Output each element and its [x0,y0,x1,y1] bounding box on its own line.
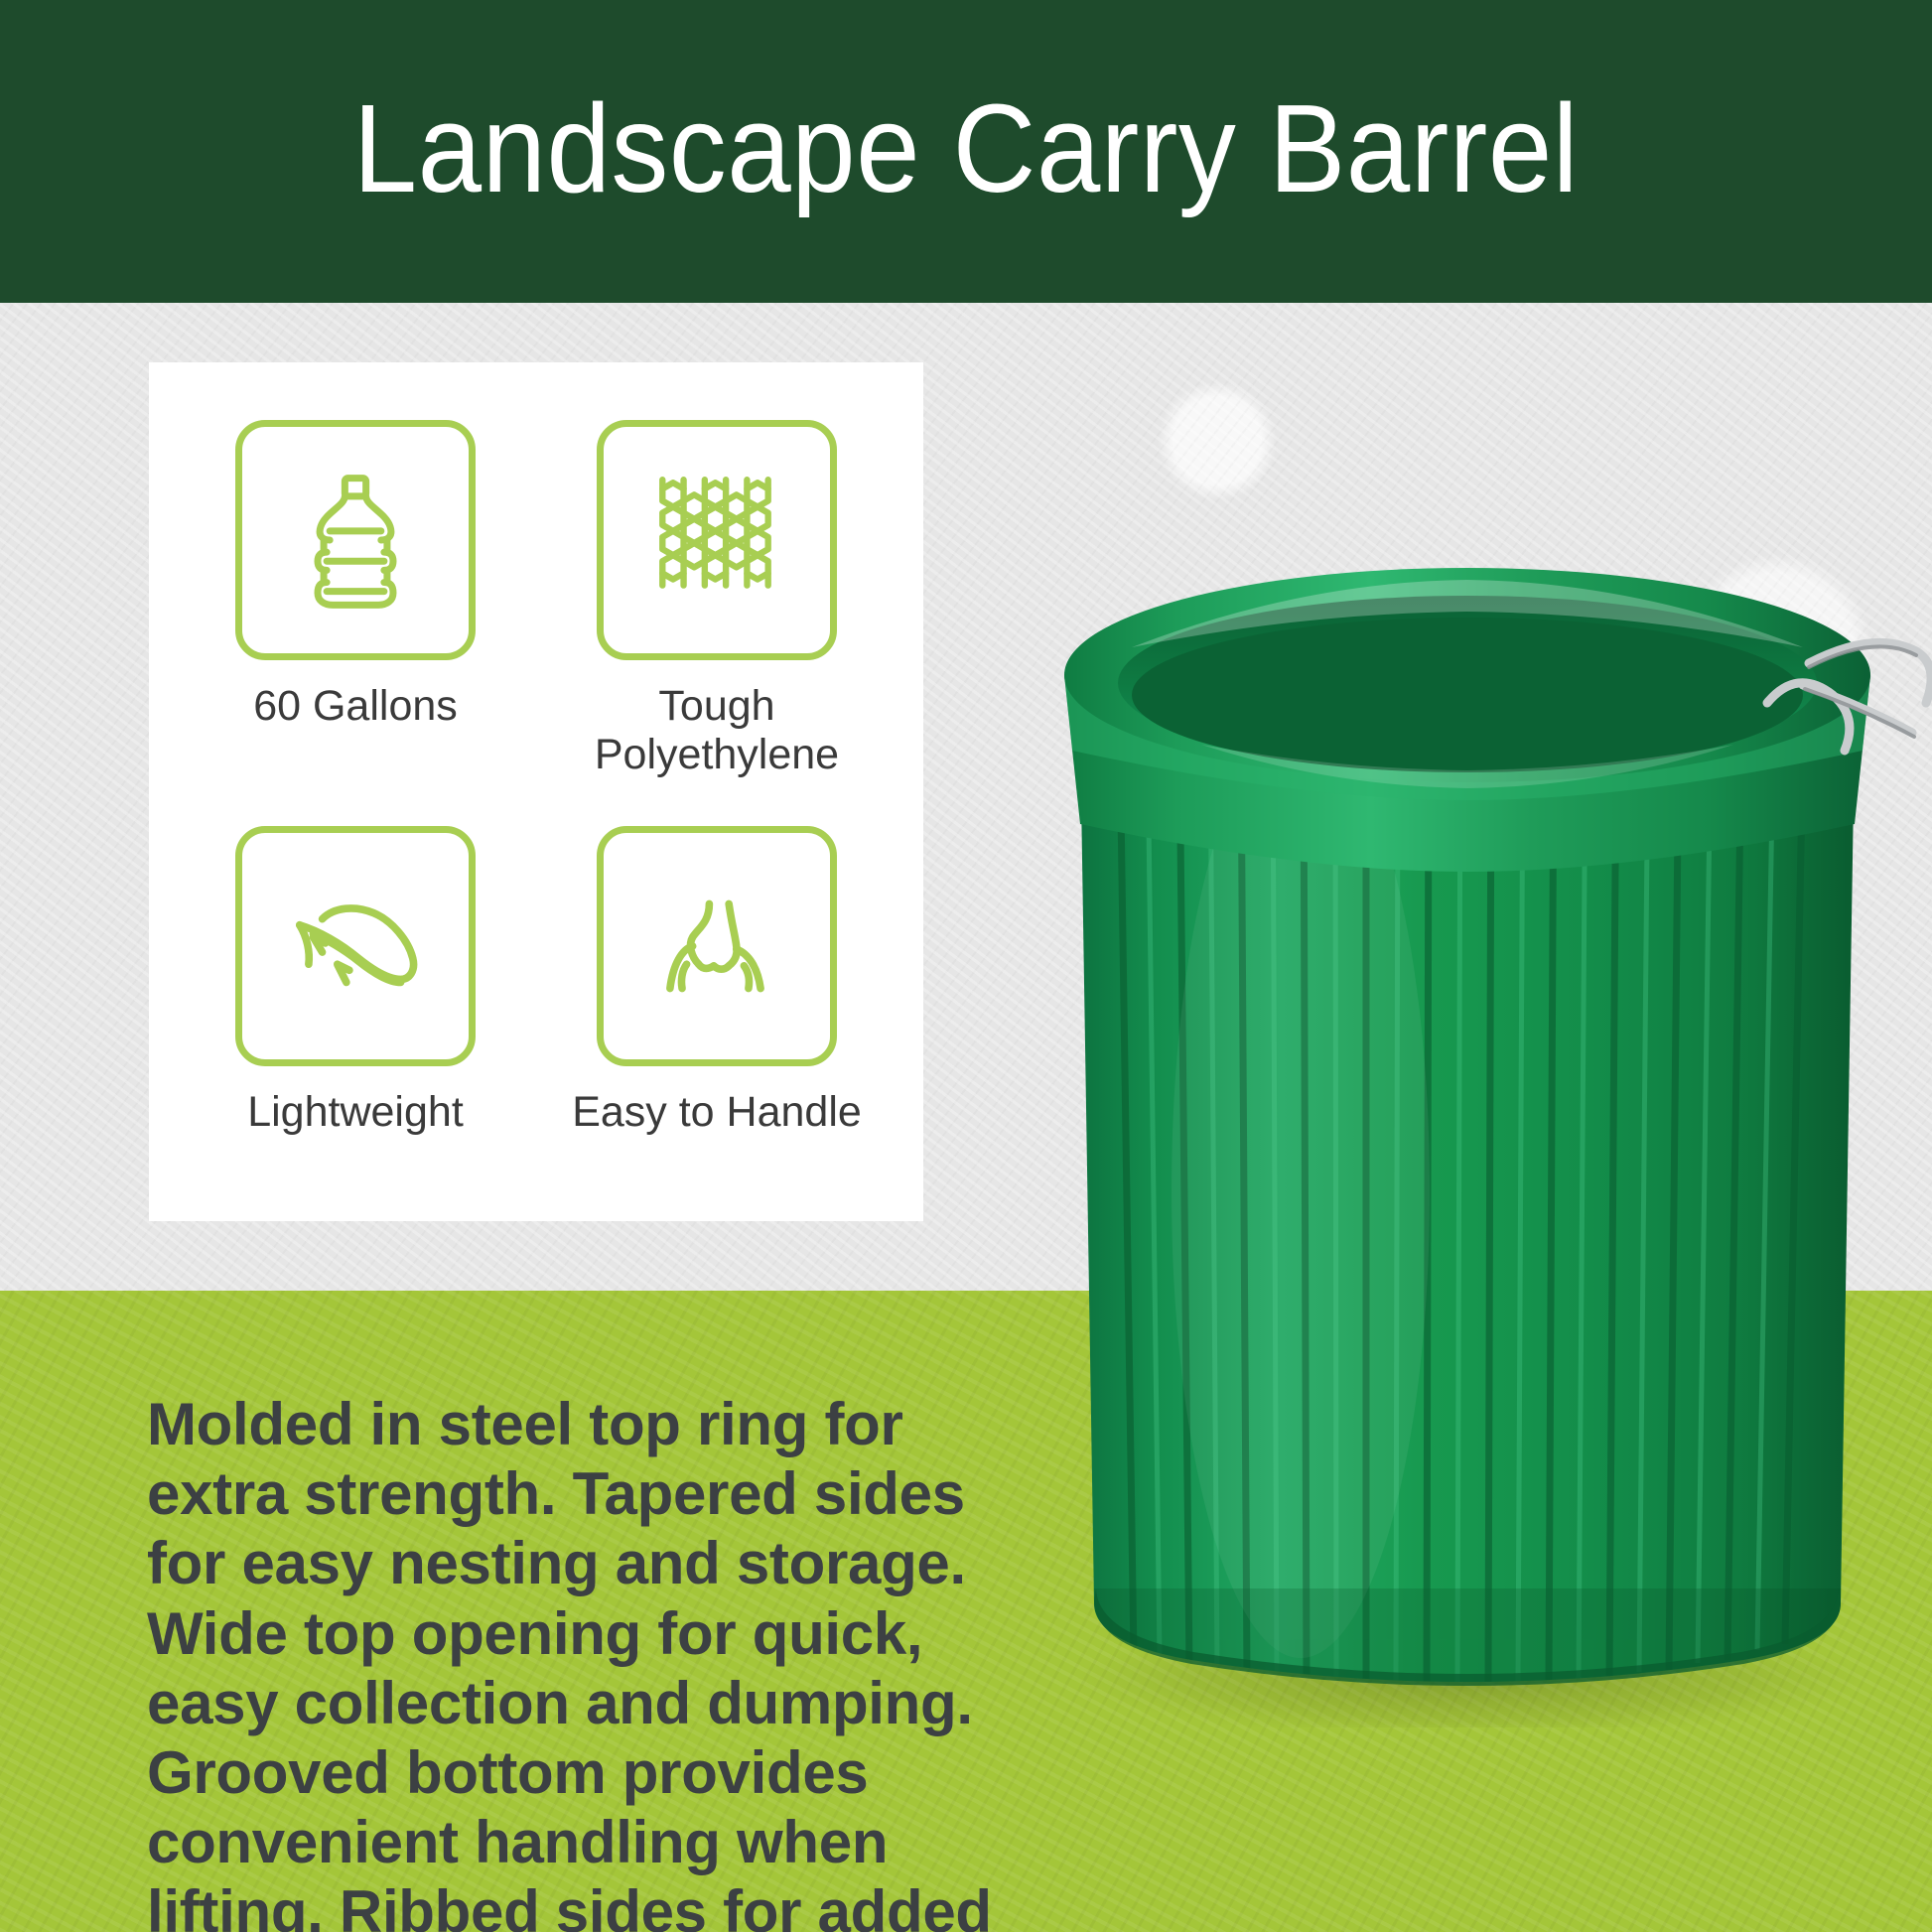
product-image [1003,556,1932,1727]
icon-container-material [597,420,837,660]
product-infographic: Landscape Carry Barrel [0,0,1932,1932]
feature-label-lightweight: Lightweight [247,1088,464,1137]
feature-label-handle: Easy to Handle [572,1088,862,1137]
icon-container-handle [597,826,837,1066]
feature-label-gallons: 60 Gallons [253,682,458,731]
header-banner: Landscape Carry Barrel [0,0,1932,303]
hand-grip-icon [641,871,792,1022]
feather-icon [280,871,431,1022]
feature-item-gallons: 60 Gallons [185,420,526,780]
icon-container-lightweight [235,826,476,1066]
feature-card: 60 Gallons [149,362,923,1221]
page-title: Landscape Carry Barrel [353,86,1579,211]
product-description: Molded in steel top ring for extra stren… [147,1390,1011,1932]
feature-label-material: Tough Polyethylene [553,682,881,780]
feature-grid: 60 Gallons [185,420,888,1137]
honeycomb-mesh-icon [641,465,792,616]
water-jug-icon [280,465,431,616]
feature-item-handle: Easy to Handle [546,826,888,1137]
feature-item-lightweight: Lightweight [185,826,526,1137]
feature-item-material: Tough Polyethylene [546,420,888,780]
icon-container-gallons [235,420,476,660]
